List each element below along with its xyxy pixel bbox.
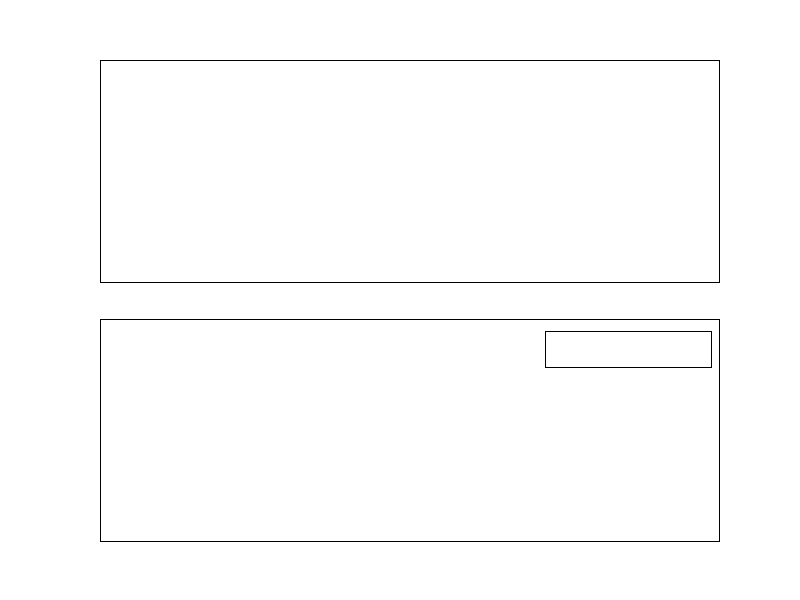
histogram-svg bbox=[101, 61, 719, 282]
differential-histogram-plot bbox=[100, 60, 720, 283]
figure-canvas bbox=[0, 0, 800, 600]
mag-limit-legend-swatch bbox=[557, 343, 603, 357]
legend[interactable] bbox=[545, 331, 712, 368]
